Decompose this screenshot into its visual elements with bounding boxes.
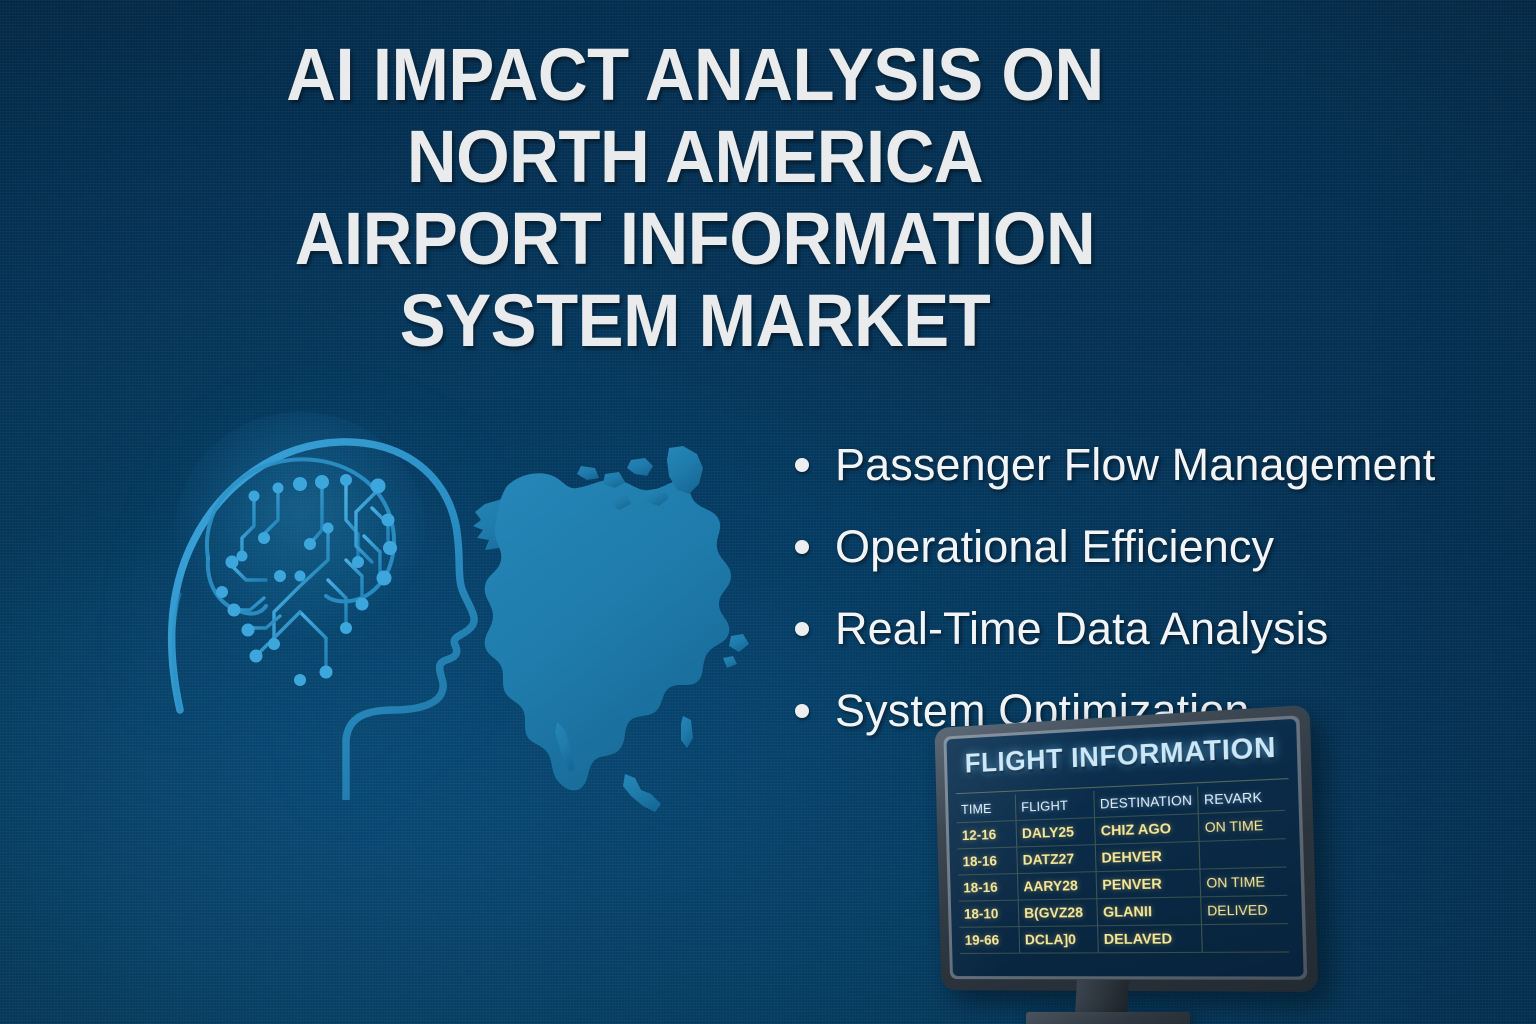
table-row: 19-66 [959,927,1020,954]
table-row: 12-16 [957,821,1018,849]
bullet-dot-icon [795,704,809,718]
table-row: 18-16 [958,874,1019,902]
list-item: Operational Efficiency [795,506,1535,588]
flight-board-title: FLIGHT INFORMATION [953,730,1290,780]
bullet-dot-icon [795,622,809,636]
monitor-stand-neck [1075,980,1129,1014]
feature-label: Operational Efficiency [835,522,1274,572]
table-row: DATZ27 [1017,845,1096,874]
table-row: 18-16 [957,848,1018,876]
table-row: AARY28 [1018,872,1097,900]
monitor-stand-base [1026,1012,1190,1024]
feature-label: Passenger Flow Management [835,440,1435,490]
monitor-bezel: FLIGHT INFORMATION TIME FLIGHT DESTINATI… [934,705,1318,992]
feature-label: Real-Time Data Analysis [835,604,1328,654]
page-title: AI IMPACT ANALYSIS ON NORTH AMERICA AIRP… [49,34,1342,362]
list-item: Passenger Flow Management [795,424,1535,506]
table-row [1202,924,1289,953]
column-header-remark: REVARK [1198,783,1285,815]
north-america-map-icon [455,430,805,830]
table-row: PENVER [1097,870,1202,900]
column-header-time: TIME [956,795,1017,824]
table-row: ON TIME [1200,868,1287,898]
bullet-dot-icon [795,458,809,472]
table-row [1200,839,1287,869]
flight-board-screen: FLIGHT INFORMATION TIME FLIGHT DESTINATI… [946,719,1303,977]
table-row: DALY25 [1017,818,1096,847]
column-header-flight: FLIGHT [1016,791,1095,821]
table-row: DEHVER [1096,842,1201,872]
flight-board-table: TIME FLIGHT DESTINATION REVARK 12-16 DAL… [956,782,1297,972]
flight-information-monitor: FLIGHT INFORMATION TIME FLIGHT DESTINATI… [938,728,1306,1024]
bullet-dot-icon [795,540,809,554]
feature-list: Passenger Flow Management Operational Ef… [795,424,1535,752]
table-row: GLANII [1097,897,1202,926]
table-row: DCLA]0 [1019,926,1098,953]
monitor-inner-bezel: FLIGHT INFORMATION TIME FLIGHT DESTINATI… [943,715,1307,980]
list-item: Real-Time Data Analysis [795,588,1535,670]
table-row: CHIZ AGO [1095,814,1200,845]
table-row: DELIVED [1201,896,1288,925]
table-row: 18-10 [959,901,1020,928]
column-header-destination: DESTINATION [1094,786,1199,818]
table-row: B(GVZ28 [1019,899,1098,927]
table-row: DELAVED [1098,925,1203,953]
table-row: ON TIME [1199,811,1286,842]
